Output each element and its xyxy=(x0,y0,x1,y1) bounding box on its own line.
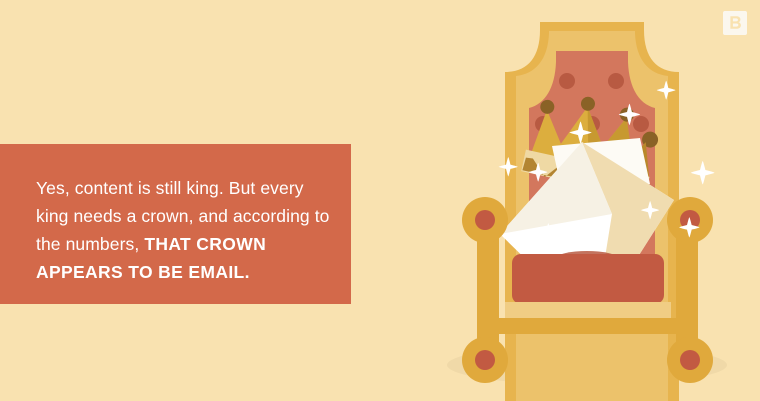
throne-tufting-dot xyxy=(633,116,649,132)
throne-foot-left-inner xyxy=(475,350,495,370)
throne-seat-rail xyxy=(505,302,671,320)
throne-illustration xyxy=(415,0,760,401)
throne-seat xyxy=(505,251,671,320)
quote-callout-box: Yes, content is still king. But every ki… xyxy=(0,144,351,304)
throne-arm-finial-left-inner xyxy=(475,210,495,230)
throne-tufting-dot xyxy=(559,73,575,89)
throne-foot-right-inner xyxy=(680,350,700,370)
throne-illustration-svg xyxy=(415,0,760,401)
throne-tufting-dot xyxy=(608,73,624,89)
infographic-canvas: Yes, content is still king. But every ki… xyxy=(0,0,760,401)
throne-seat-cushion xyxy=(512,254,664,304)
sparkle xyxy=(691,161,714,184)
quote-paragraph: Yes, content is still king. But every ki… xyxy=(36,174,336,286)
throne-stretcher-bar xyxy=(485,318,690,334)
